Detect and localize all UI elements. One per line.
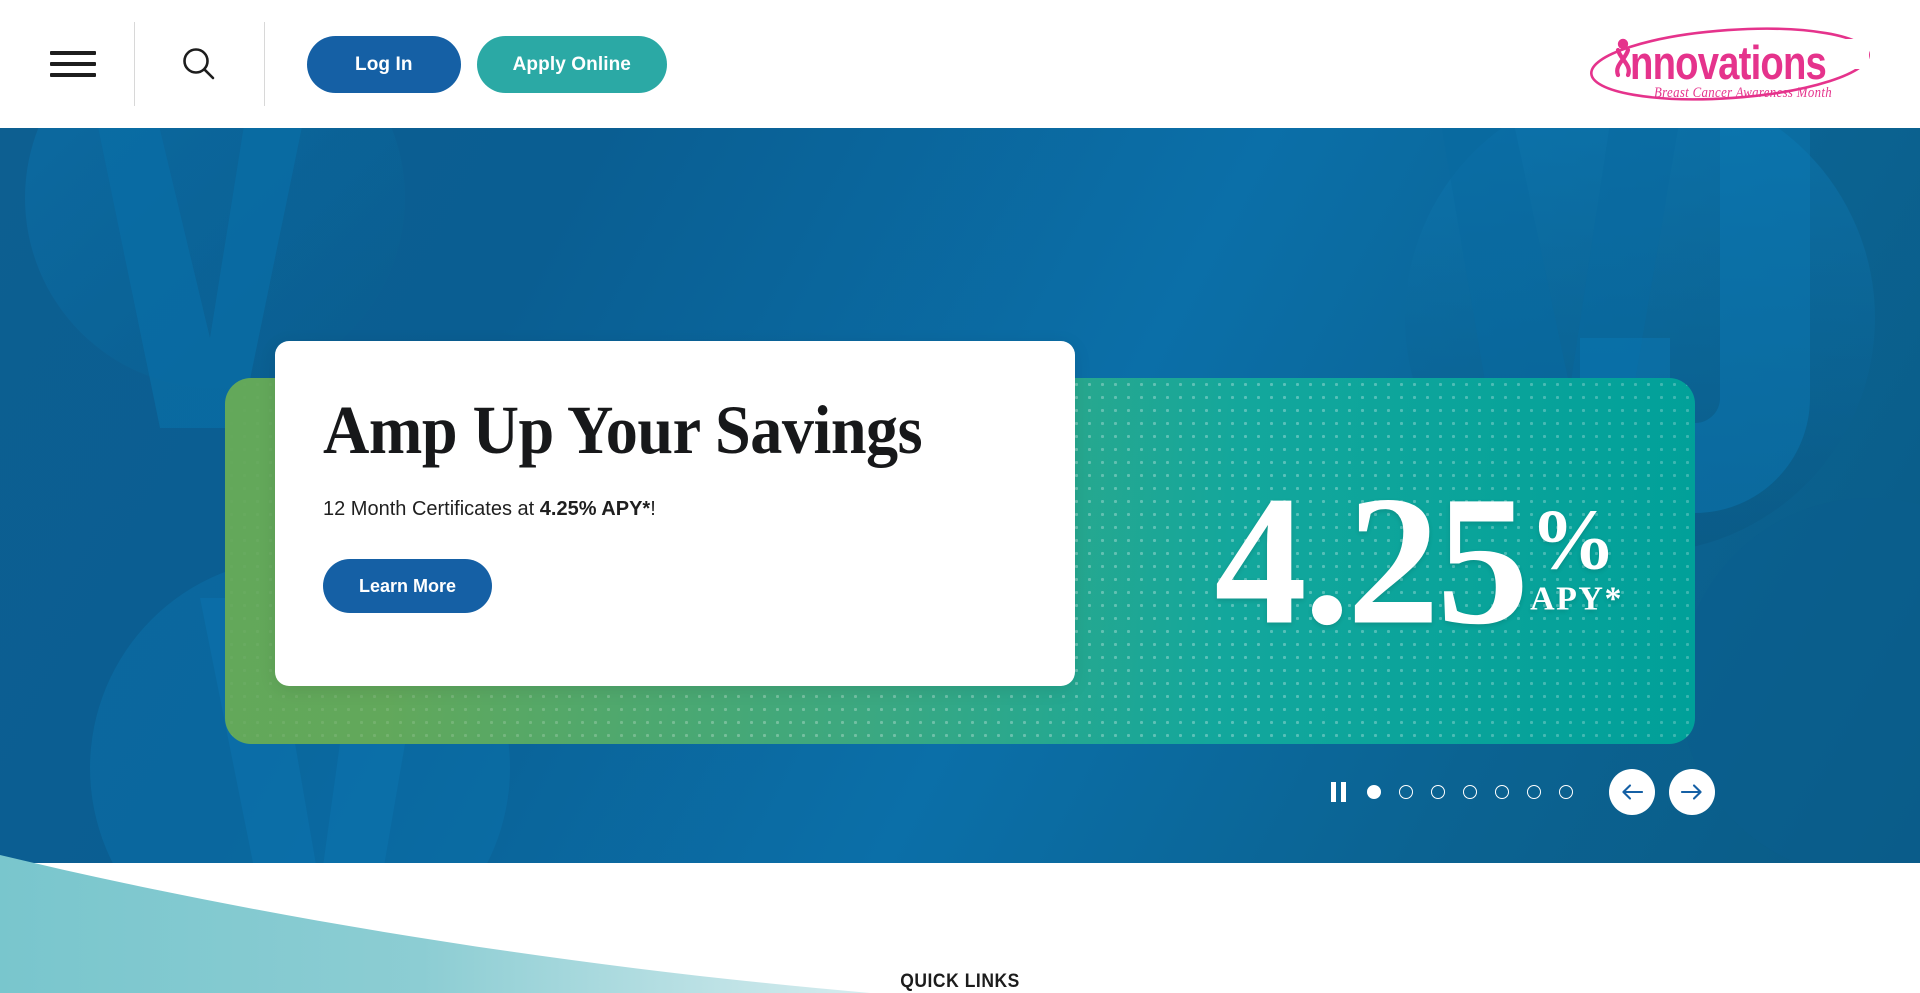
carousel-dot-4[interactable] (1463, 785, 1477, 799)
header-actions: Log In Apply Online (307, 36, 667, 93)
rate-apy-label: APY* (1530, 583, 1623, 617)
wave-divider (0, 810, 1920, 993)
pause-bar (1331, 782, 1336, 802)
carousel-dot-2[interactable] (1399, 785, 1413, 799)
slide-subtext-prefix: 12 Month Certificates at (323, 498, 540, 520)
hamburger-bar (50, 62, 96, 66)
carousel-next-button[interactable] (1669, 769, 1715, 815)
hamburger-bar (50, 73, 96, 77)
rate-graphic: 4.25 % APY* (1214, 481, 1623, 640)
rate-percent-symbol: % (1530, 501, 1616, 578)
carousel-dot-3[interactable] (1431, 785, 1445, 799)
page-root: Log In Apply Online nnovations Breast Ca… (0, 0, 1920, 993)
hamburger-bar (50, 51, 96, 55)
carousel-dot-5[interactable] (1495, 785, 1509, 799)
carousel-dot-7[interactable] (1559, 785, 1573, 799)
arrow-left-icon (1621, 783, 1643, 801)
log-in-button[interactable]: Log In (307, 36, 461, 93)
slide-content-card: Amp Up Your Savings 12 Month Certificate… (275, 341, 1075, 686)
arrow-right-icon (1681, 783, 1703, 801)
svg-text:nnovations: nnovations (1630, 36, 1826, 89)
carousel-nav (1609, 769, 1715, 815)
svg-text:Breast Cancer Awareness Month: Breast Cancer Awareness Month (1654, 85, 1832, 101)
rate-number: 4.25 (1214, 481, 1526, 640)
header-divider (264, 22, 265, 106)
header-divider (134, 22, 135, 106)
carousel-controls (1325, 765, 1715, 819)
carousel-dot-6[interactable] (1527, 785, 1541, 799)
slide-subtext: 12 Month Certificates at 4.25% APY*! (323, 495, 1015, 523)
site-logo[interactable]: nnovations Breast Cancer Awareness Month… (1584, 23, 1872, 105)
pause-icon[interactable] (1325, 779, 1351, 805)
carousel-prev-button[interactable] (1609, 769, 1655, 815)
hamburger-menu-icon[interactable] (50, 47, 96, 81)
slide-subtext-rate: 4.25% APY* (540, 498, 650, 520)
search-icon[interactable] (171, 36, 227, 92)
pause-bar (1341, 782, 1346, 802)
slide-subtext-suffix: ! (650, 498, 656, 520)
site-header: Log In Apply Online nnovations Breast Ca… (0, 0, 1920, 128)
slide-heading: Amp Up Your Savings (323, 395, 967, 465)
apply-online-button[interactable]: Apply Online (477, 36, 667, 93)
carousel-dot-1[interactable] (1367, 785, 1381, 799)
carousel-dots (1367, 785, 1591, 799)
learn-more-button[interactable]: Learn More (323, 559, 492, 613)
hero-carousel: 4.25 % APY* Amp Up Your Savings 12 Month… (0, 128, 1920, 863)
